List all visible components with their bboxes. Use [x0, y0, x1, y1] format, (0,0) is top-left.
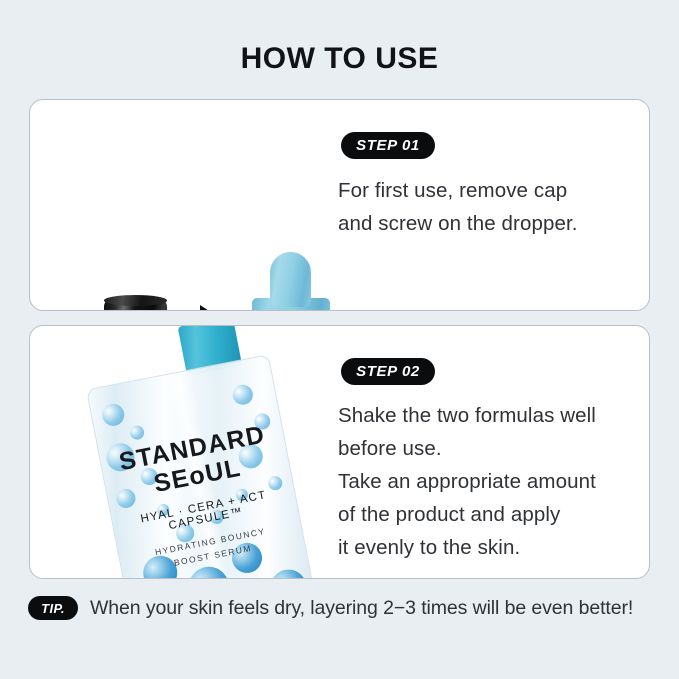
- step-02-card: STANDARD SEoUL HYAL · CERA + ACT CAPSULE…: [29, 325, 650, 579]
- step-01-badge: STEP 01: [341, 132, 435, 159]
- black-cap-icon: [104, 300, 167, 311]
- dropper-bulb-icon: [270, 252, 311, 307]
- step-01-card: STEP 01 For first use, remove cap and sc…: [29, 99, 650, 311]
- step-02-illustration: STANDARD SEoUL HYAL · CERA + ACT CAPSULE…: [30, 326, 340, 579]
- capsule-bubble: [100, 402, 126, 428]
- capsule-bubble: [267, 566, 309, 579]
- step-02-badge: STEP 02: [341, 358, 435, 385]
- page-title: HOW TO USE: [0, 42, 679, 76]
- product-label: STANDARD SEoUL HYAL · CERA + ACT CAPSULE…: [99, 418, 304, 579]
- step-02-description: Shake the two formulas well before use. …: [338, 399, 650, 564]
- capsule-bubble: [129, 424, 145, 440]
- tip-row: TIP. When your skin feels dry, layering …: [28, 596, 633, 620]
- bottle-body: STANDARD SEoUL HYAL · CERA + ACT CAPSULE…: [86, 354, 319, 579]
- tip-text: When your skin feels dry, layering 2−3 t…: [90, 597, 633, 620]
- step-01-illustration: [30, 100, 330, 311]
- step-01-description: For first use, remove cap and screw on t…: [338, 174, 648, 240]
- serum-bottle-product: STANDARD SEoUL HYAL · CERA + ACT CAPSULE…: [74, 326, 314, 579]
- arrow-right-icon: [200, 305, 220, 311]
- capsule-bubble: [185, 563, 232, 579]
- capsule-bubble: [231, 383, 254, 406]
- tip-badge: TIP.: [28, 596, 78, 620]
